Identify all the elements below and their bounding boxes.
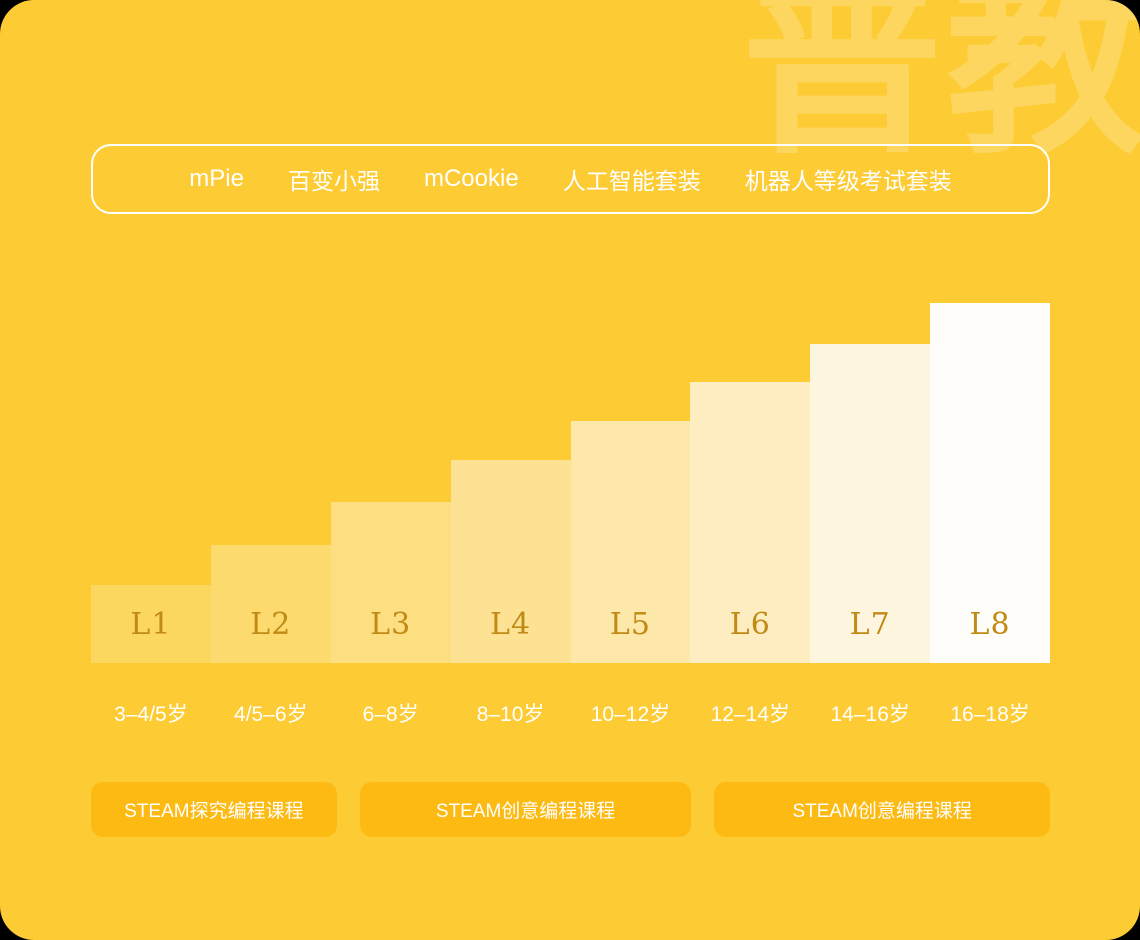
bar-label-l3: L3 bbox=[370, 610, 411, 663]
product-tabbar: mPie 百变小强 mCookie 人工智能套装 机器人等级考试套装 bbox=[91, 144, 1050, 214]
tab-mpie[interactable]: mPie bbox=[167, 165, 266, 193]
age-label-l3: 6–8岁 bbox=[331, 698, 451, 728]
bar-label-l4: L4 bbox=[490, 610, 531, 663]
age-label-l7: 14–16岁 bbox=[810, 698, 930, 728]
bar-l4[interactable]: L4 bbox=[451, 460, 571, 663]
bar-l8[interactable]: L8 bbox=[930, 303, 1050, 663]
bar-l7[interactable]: L7 bbox=[810, 344, 930, 663]
course-button-creative-2[interactable]: STEAM创意编程课程 bbox=[714, 782, 1050, 837]
age-label-l5: 10–12岁 bbox=[571, 698, 691, 728]
age-label-l2: 4/5–6岁 bbox=[211, 698, 331, 728]
bar-label-l5: L5 bbox=[610, 610, 651, 663]
bar-l6[interactable]: L6 bbox=[690, 382, 810, 663]
course-level-card: 普教 mPie 百变小强 mCookie 人工智能套装 机器人等级考试套装 L1… bbox=[0, 0, 1140, 940]
bar-label-l1: L1 bbox=[130, 610, 171, 663]
level-bar-chart: L1 L2 L3 L4 L5 L6 L7 L8 bbox=[91, 290, 1050, 663]
bar-l5[interactable]: L5 bbox=[571, 421, 691, 663]
bar-l1[interactable]: L1 bbox=[91, 585, 211, 663]
tab-ai-kit[interactable]: 人工智能套装 bbox=[541, 162, 723, 196]
watermark-text: 普教 bbox=[742, 0, 1140, 166]
bar-label-l6: L6 bbox=[730, 610, 771, 663]
bar-label-l2: L2 bbox=[250, 610, 291, 663]
age-label-l4: 8–10岁 bbox=[451, 698, 571, 728]
age-range-row: 3–4/5岁 4/5–6岁 6–8岁 8–10岁 10–12岁 12–14岁 1… bbox=[91, 698, 1050, 728]
age-label-l8: 16–18岁 bbox=[930, 698, 1050, 728]
bar-l2[interactable]: L2 bbox=[211, 545, 331, 663]
tab-mcookie[interactable]: mCookie bbox=[402, 165, 541, 193]
age-label-l1: 3–4/5岁 bbox=[91, 698, 211, 728]
bar-l3[interactable]: L3 bbox=[331, 502, 451, 663]
course-button-creative-1[interactable]: STEAM创意编程课程 bbox=[360, 782, 692, 837]
tab-robot-exam-kit[interactable]: 机器人等级考试套装 bbox=[723, 162, 974, 196]
bar-label-l8: L8 bbox=[970, 610, 1011, 663]
course-button-explore[interactable]: STEAM探究编程课程 bbox=[91, 782, 337, 837]
age-label-l6: 12–14岁 bbox=[690, 698, 810, 728]
course-button-row: STEAM探究编程课程 STEAM创意编程课程 STEAM创意编程课程 bbox=[91, 782, 1050, 837]
tab-baibianxiaoqiang[interactable]: 百变小强 bbox=[266, 162, 402, 196]
bar-label-l7: L7 bbox=[850, 610, 891, 663]
